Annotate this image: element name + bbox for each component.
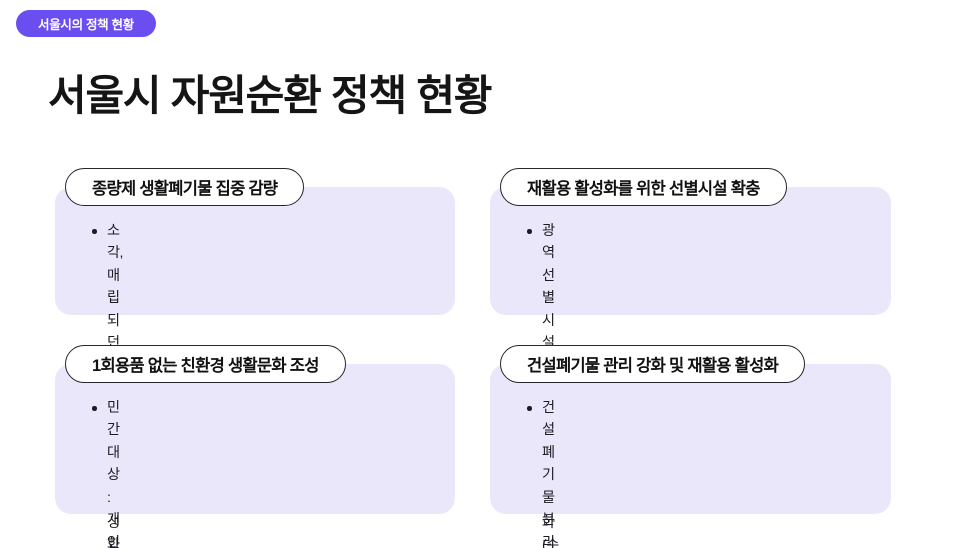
list-item: 민간대상 : 개인컵 컵 사용 증진, 다회용기 이용 체계 구축, 친환경 매… — [91, 397, 107, 548]
card-heading-pill: 1회용품 없는 친환경 생활문화 조성 — [65, 345, 346, 383]
list-item: 건설폐기물 분리·배출 강화 및 재활용 활성화 추진 — [526, 397, 542, 548]
slide-root: 서울시의 정책 현황 서울시 자원순환 정책 현황 종량제 생활폐기물 집중 감… — [0, 0, 978, 548]
page-title: 서울시 자원순환 정책 현황 — [48, 72, 491, 120]
card-heading-pill: 재활용 활성화를 위한 선별시설 확충 — [500, 168, 787, 206]
card-heading-pill: 건설폐기물 관리 강화 및 재활용 활성화 — [500, 345, 805, 383]
eyebrow-badge: 서울시의 정책 현황 — [16, 10, 156, 37]
card-heading-pill: 종량제 생활폐기물 집중 감량 — [65, 168, 304, 206]
